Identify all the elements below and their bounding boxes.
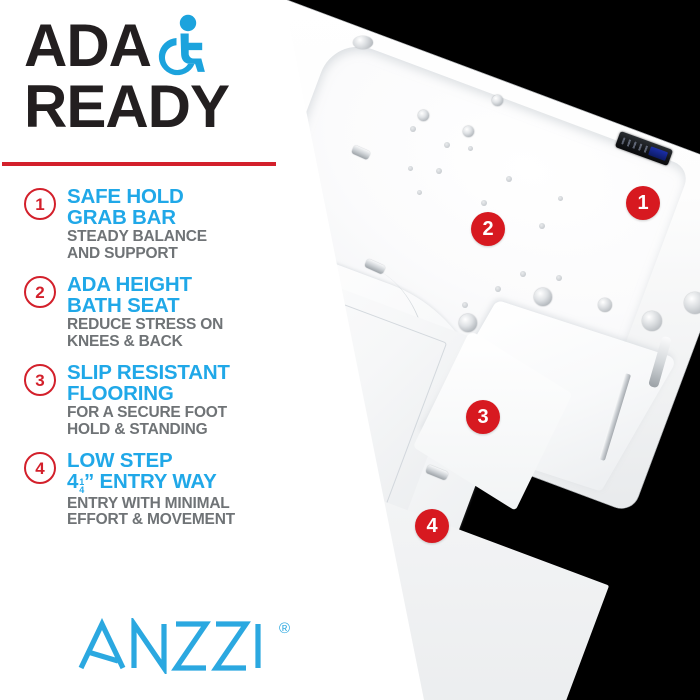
feature-badge-1[interactable]: 1 [24,188,56,220]
entry-width-whole: 4 [67,470,78,493]
control-keys[interactable] [621,137,650,153]
faucet-handle [684,292,700,314]
feature-subtitle-1: STEADY BALANCE AND SUPPORT [67,229,207,262]
registered-trademark-icon: ® [279,620,290,637]
tub-microjet [408,166,413,171]
footwell-microjet [495,286,501,292]
anzzi-wordmark [78,618,278,674]
footwell-microjet [520,271,526,277]
page-title: ADA READY [22,20,292,132]
control-display [648,146,668,161]
footwell-microjet [556,275,562,281]
entry-width-unit: ” ENTRY WAY [84,470,217,493]
tub-microjet [539,223,545,229]
headline-row-1: ADA [22,20,292,79]
callout-pin-3[interactable]: 3 [466,400,500,434]
feature-item-4[interactable]: 4 LOW STEP 414” ENTRY WAY ENTRY WITH MIN… [24,450,300,528]
footwell-microjet [462,302,468,308]
tub-microjet [468,146,473,151]
brand-logo[interactable]: ® [78,618,290,674]
feature-item-1[interactable]: 1 SAFE HOLD GRAB BAR STEADY BALANCE AND … [24,186,300,262]
feature-title-4-line1: LOW STEP [67,450,235,471]
headline-line-ada: ADA [24,20,151,72]
feature-title-1: SAFE HOLD GRAB BAR [67,186,207,228]
callout-pin-1[interactable]: 1 [626,186,660,220]
overflow-fitting [353,36,373,49]
tub-microjet [410,126,416,132]
feature-text-3: SLIP RESISTANT FLOORING FOR A SECURE FOO… [67,362,230,438]
feature-text-4: LOW STEP 414” ENTRY WAY ENTRY WITH MINIM… [67,450,235,528]
feature-item-2[interactable]: 2 ADA HEIGHT BATH SEAT REDUCE STRESS ON … [24,274,300,350]
tub-jet [492,95,503,106]
wheelchair-accessibility-icon [155,14,211,79]
faucet-handle [642,311,662,331]
ada-ready-infographic: 1 2 3 4 ADA READY [0,0,700,700]
feature-subtitle-4: ENTRY WITH MINIMAL EFFORT & MOVEMENT [67,496,235,529]
feature-badge-4[interactable]: 4 [24,452,56,484]
tub-microjet [506,176,512,182]
feature-text-2: ADA HEIGHT BATH SEAT REDUCE STRESS ON KN… [67,274,223,350]
tub-jet [463,126,474,137]
footwell-jet [459,314,477,332]
feature-item-3[interactable]: 3 SLIP RESISTANT FLOORING FOR A SECURE F… [24,362,300,438]
tub-microjet [417,190,422,195]
tub-microjet [558,196,563,201]
feature-badge-2[interactable]: 2 [24,276,56,308]
content-panel: ADA READY 1 SAFE HOLD GRAB BAR [0,0,300,700]
feature-title-2: ADA HEIGHT BATH SEAT [67,274,223,316]
tub-jet [418,110,429,121]
tub-microjet [436,168,442,174]
tub-microjet [444,142,450,148]
feature-title-4-line2: 414” ENTRY WAY [67,471,235,494]
feature-list: 1 SAFE HOLD GRAB BAR STEADY BALANCE AND … [24,186,300,540]
feature-text-1: SAFE HOLD GRAB BAR STEADY BALANCE AND SU… [67,186,207,262]
feature-badge-3[interactable]: 3 [24,364,56,396]
tub-microjet [481,200,487,206]
callout-pin-4[interactable]: 4 [415,509,449,543]
footwell-jet [534,288,552,306]
feature-title-3: SLIP RESISTANT FLOORING [67,362,230,404]
feature-subtitle-2: REDUCE STRESS ON KNEES & BACK [67,317,223,350]
headline-row-2: READY [22,79,292,133]
faucet-fitting [598,298,612,312]
callout-pin-2[interactable]: 2 [471,212,505,246]
feature-subtitle-3: FOR A SECURE FOOT HOLD & STANDING [67,405,230,438]
headline-line-ready: READY [24,81,229,133]
title-divider [2,162,276,166]
